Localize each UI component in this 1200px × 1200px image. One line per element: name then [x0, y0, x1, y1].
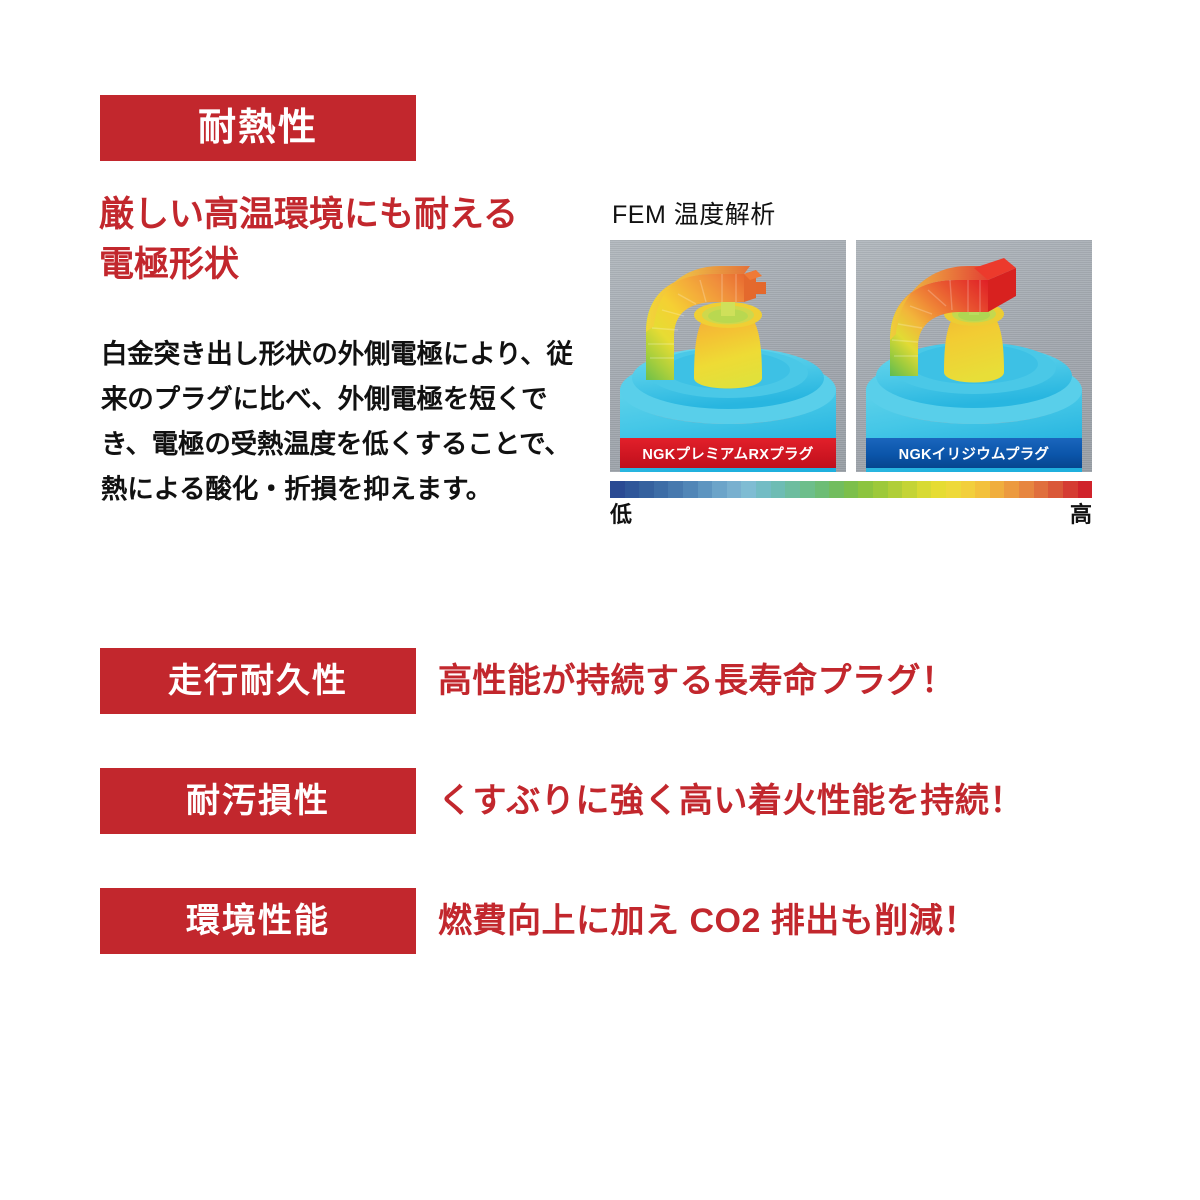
fem-caption-premium-rx: NGKプレミアムRXプラグ: [620, 438, 836, 468]
fem-panel-premium-rx: NGKプレミアムRXプラグ: [610, 240, 846, 472]
legend-swatch-6: [698, 481, 713, 498]
feature-description: 燃費向上に加え CO2 排出も削減！: [438, 904, 978, 938]
legend-swatch-17: [858, 481, 873, 498]
legend-swatch-32: [1078, 481, 1093, 498]
legend-swatch-7: [712, 481, 727, 498]
feature-badge-label: 耐汚損性: [186, 784, 330, 818]
legend-swatch-16: [844, 481, 859, 498]
legend-swatch-30: [1048, 481, 1063, 498]
legend-swatch-12: [785, 481, 800, 498]
legend-swatch-4: [668, 481, 683, 498]
heat-resistance-heading-line1: 厳しい高温環境にも耐える: [99, 190, 599, 240]
feature-badge-label: 走行耐久性: [168, 664, 348, 698]
fem-caption-text: NGKイリジウムプラグ: [899, 443, 1050, 464]
legend-swatch-24: [961, 481, 976, 498]
legend-swatch-5: [683, 481, 698, 498]
feature-badge: 耐汚損性: [100, 768, 416, 834]
legend-swatch-20: [902, 481, 917, 498]
fem-caption-iridium: NGKイリジウムプラグ: [866, 438, 1082, 468]
heat-resistance-badge-label: 耐熱性: [198, 109, 318, 147]
legend-high-label: 高: [1070, 502, 1092, 527]
fem-panel-group: NGKプレミアムRXプラグ: [610, 240, 1092, 472]
heat-resistance-heading-line2: 電極形状: [99, 240, 599, 290]
legend-swatch-1: [625, 481, 640, 498]
heat-resistance-badge: 耐熱性: [100, 95, 416, 161]
legend-swatch-13: [800, 481, 815, 498]
feature-badge: 走行耐久性: [100, 648, 416, 714]
legend-swatch-8: [727, 481, 742, 498]
legend-swatch-23: [946, 481, 961, 498]
legend-swatch-14: [815, 481, 830, 498]
fem-analysis-title: FEM 温度解析: [612, 203, 776, 228]
heat-resistance-heading: 厳しい高温環境にも耐える 電極形状: [99, 190, 599, 289]
legend-swatch-9: [741, 481, 756, 498]
feature-badge-label: 環境性能: [186, 904, 330, 938]
legend-swatch-19: [888, 481, 903, 498]
temperature-legend-bar: [610, 481, 1092, 498]
legend-swatch-29: [1034, 481, 1049, 498]
heat-resistance-body-text: 白金突き出し形状の外側電極により、従来のプラグに比べ、外側電極を短くでき、電極の…: [101, 332, 581, 512]
feature-badge: 環境性能: [100, 888, 416, 954]
feature-row-environmental-performance: 環境性能 燃費向上に加え CO2 排出も削減！: [100, 888, 1100, 954]
legend-swatch-22: [931, 481, 946, 498]
legend-swatch-25: [975, 481, 990, 498]
temperature-legend-labels: 低 高: [610, 502, 1092, 527]
legend-swatch-26: [990, 481, 1005, 498]
legend-swatch-21: [917, 481, 932, 498]
legend-swatch-15: [829, 481, 844, 498]
feature-row-driving-durability: 走行耐久性 高性能が持続する長寿命プラグ！: [100, 648, 1100, 714]
feature-row-fouling-resistance: 耐汚損性 くすぶりに強く高い着火性能を持続！: [100, 768, 1100, 834]
legend-swatch-0: [610, 481, 625, 498]
legend-swatch-27: [1004, 481, 1019, 498]
legend-swatch-2: [639, 481, 654, 498]
fem-caption-text: NGKプレミアムRXプラグ: [642, 443, 813, 464]
feature-description: くすぶりに強く高い着火性能を持続！: [438, 784, 1024, 818]
legend-low-label: 低: [610, 502, 632, 527]
fem-panel-iridium: NGKイリジウムプラグ: [856, 240, 1092, 472]
legend-swatch-31: [1063, 481, 1078, 498]
legend-swatch-11: [771, 481, 786, 498]
legend-swatch-10: [756, 481, 771, 498]
legend-swatch-3: [654, 481, 669, 498]
legend-swatch-28: [1019, 481, 1034, 498]
legend-swatch-18: [873, 481, 888, 498]
feature-description: 高性能が持続する長寿命プラグ！: [438, 664, 956, 698]
